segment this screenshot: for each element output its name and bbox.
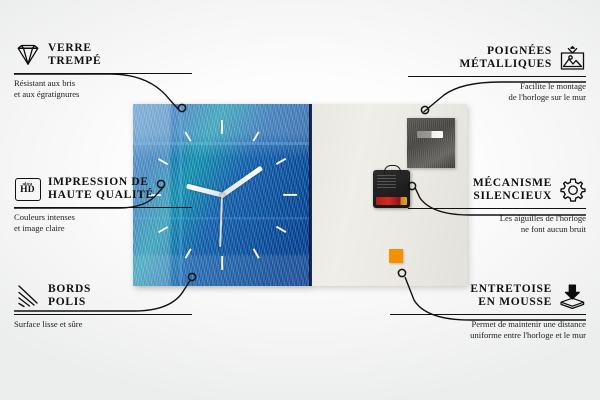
feature-head: POIGNÉES MÉTALLIQUES bbox=[408, 43, 586, 73]
feature-title-line1: VERRE bbox=[48, 42, 92, 54]
feature-desc-line2: et image claire bbox=[14, 223, 65, 233]
feature-title-line1: BORDS bbox=[48, 283, 91, 295]
dial-tick bbox=[184, 131, 191, 142]
feature-title-line1: POIGNÉES bbox=[487, 45, 552, 57]
feature-head: ENTRETOISE EN MOUSSE bbox=[390, 281, 586, 311]
mechanism-label bbox=[377, 175, 396, 188]
feature-rule bbox=[14, 207, 192, 208]
dial-tick bbox=[252, 131, 259, 142]
picture-hanger-icon bbox=[559, 45, 586, 72]
dial-tick bbox=[276, 225, 287, 232]
feature-entretoise-en-mousse: ENTRETOISE EN MOUSSE Permet de maintenir… bbox=[390, 281, 586, 340]
feature-title: POIGNÉES MÉTALLIQUES bbox=[460, 45, 552, 71]
polished-edges-icon bbox=[14, 283, 41, 310]
dial-tick bbox=[221, 120, 223, 134]
feature-title-line1: IMPRESSION DE bbox=[48, 176, 149, 188]
feature-desc-line2: uniforme entre l'horloge et le mur bbox=[470, 330, 586, 340]
feature-verre-trempe: VERRE TREMPÉ Résistant aux bris et aux é… bbox=[14, 40, 192, 99]
feature-description: Résistant aux bris et aux égratignures bbox=[14, 78, 192, 99]
metal-hanger-bracket bbox=[407, 118, 455, 168]
feature-title-line1: ENTRETOISE bbox=[470, 283, 552, 295]
feature-desc-line2: ne font aucun bruit bbox=[521, 224, 586, 234]
feature-title-line2: HAUTE QUALITÉ bbox=[48, 189, 154, 201]
feature-description: Couleurs intenses et image claire bbox=[14, 212, 192, 233]
foam-spacer bbox=[389, 249, 403, 263]
feature-head: VERRE TREMPÉ bbox=[14, 40, 192, 70]
feature-description: Les aiguilles de l'horloge ne font aucun… bbox=[408, 213, 586, 234]
feature-title-line2: TREMPÉ bbox=[48, 55, 101, 67]
feature-desc-line1: Les aiguilles de l'horloge bbox=[500, 213, 586, 223]
dial-tick bbox=[283, 194, 297, 196]
feature-mecanisme-silencieux: MÉCANISME SILENCIEUX Les aiguilles de l'… bbox=[408, 175, 586, 234]
feature-title-line2: EN MOUSSE bbox=[478, 296, 552, 308]
panel-seam bbox=[309, 104, 312, 286]
feature-desc-line2: de l'horloge sur le mur bbox=[509, 92, 586, 102]
feature-title-line2: SILENCIEUX bbox=[473, 190, 552, 202]
feature-title-line1: MÉCANISME bbox=[473, 177, 552, 189]
feature-desc-line1: Facilite le montage bbox=[520, 81, 586, 91]
feature-rule bbox=[408, 208, 586, 209]
feature-title-line2: MÉTALLIQUES bbox=[460, 58, 552, 70]
feature-head: ultra HD IMPRESSION DE HAUTE QUALITÉ bbox=[14, 174, 192, 204]
ultra-hd-badge: ultra HD bbox=[15, 178, 41, 201]
feature-poignees-metalliques: POIGNÉES MÉTALLIQUES Facilite le montage… bbox=[408, 43, 586, 102]
feature-rule bbox=[390, 314, 586, 315]
feature-title: MÉCANISME SILENCIEUX bbox=[473, 177, 552, 203]
foam-spacer-icon bbox=[559, 283, 586, 310]
feature-desc-line1: Permet de maintenir une distance bbox=[471, 319, 586, 329]
minute-hand bbox=[221, 166, 263, 197]
feature-bords-polis: BORDS POLIS Surface lisse et sûre bbox=[14, 281, 192, 330]
battery bbox=[376, 197, 407, 205]
feature-desc-line1: Résistant aux bris bbox=[14, 78, 75, 88]
dial-tick bbox=[158, 157, 169, 164]
gear-icon bbox=[559, 177, 586, 204]
feature-description: Permet de maintenir une distance uniform… bbox=[390, 319, 586, 340]
clock-mechanism bbox=[373, 170, 410, 208]
ultra-hd-big-text: HD bbox=[20, 186, 35, 196]
feature-desc-line1: Couleurs intenses bbox=[14, 212, 75, 222]
feature-rule bbox=[14, 314, 192, 315]
hanger-slot bbox=[417, 131, 443, 138]
feature-title-line2: POLIS bbox=[48, 296, 86, 308]
diamond-icon bbox=[14, 42, 41, 69]
feature-description: Surface lisse et sûre bbox=[14, 319, 192, 330]
second-hand bbox=[219, 195, 222, 247]
ultra-hd-icon: ultra HD bbox=[14, 176, 41, 203]
dial-tick bbox=[252, 249, 259, 260]
feature-head: MÉCANISME SILENCIEUX bbox=[408, 175, 586, 205]
product-infographic: VERRE TREMPÉ Résistant aux bris et aux é… bbox=[0, 0, 600, 400]
dial-tick bbox=[276, 157, 287, 164]
feature-title: IMPRESSION DE HAUTE QUALITÉ bbox=[48, 176, 154, 202]
feature-impression-haute-qualite: ultra HD IMPRESSION DE HAUTE QUALITÉ Cou… bbox=[14, 174, 192, 233]
feature-desc-line2: et aux égratignures bbox=[14, 89, 79, 99]
dial-tick bbox=[221, 256, 223, 270]
dial-tick bbox=[184, 249, 191, 260]
feature-title: ENTRETOISE EN MOUSSE bbox=[470, 283, 552, 309]
feature-title: VERRE TREMPÉ bbox=[48, 42, 101, 68]
feature-rule bbox=[408, 76, 586, 77]
mechanism-hanging-loop bbox=[384, 165, 401, 174]
feature-title: BORDS POLIS bbox=[48, 283, 91, 309]
hand-center-cap bbox=[220, 193, 225, 198]
feature-description: Facilite le montage de l'horloge sur le … bbox=[408, 81, 586, 102]
feature-rule bbox=[14, 73, 192, 74]
feature-head: BORDS POLIS bbox=[14, 281, 192, 311]
feature-desc-line1: Surface lisse et sûre bbox=[14, 319, 83, 329]
